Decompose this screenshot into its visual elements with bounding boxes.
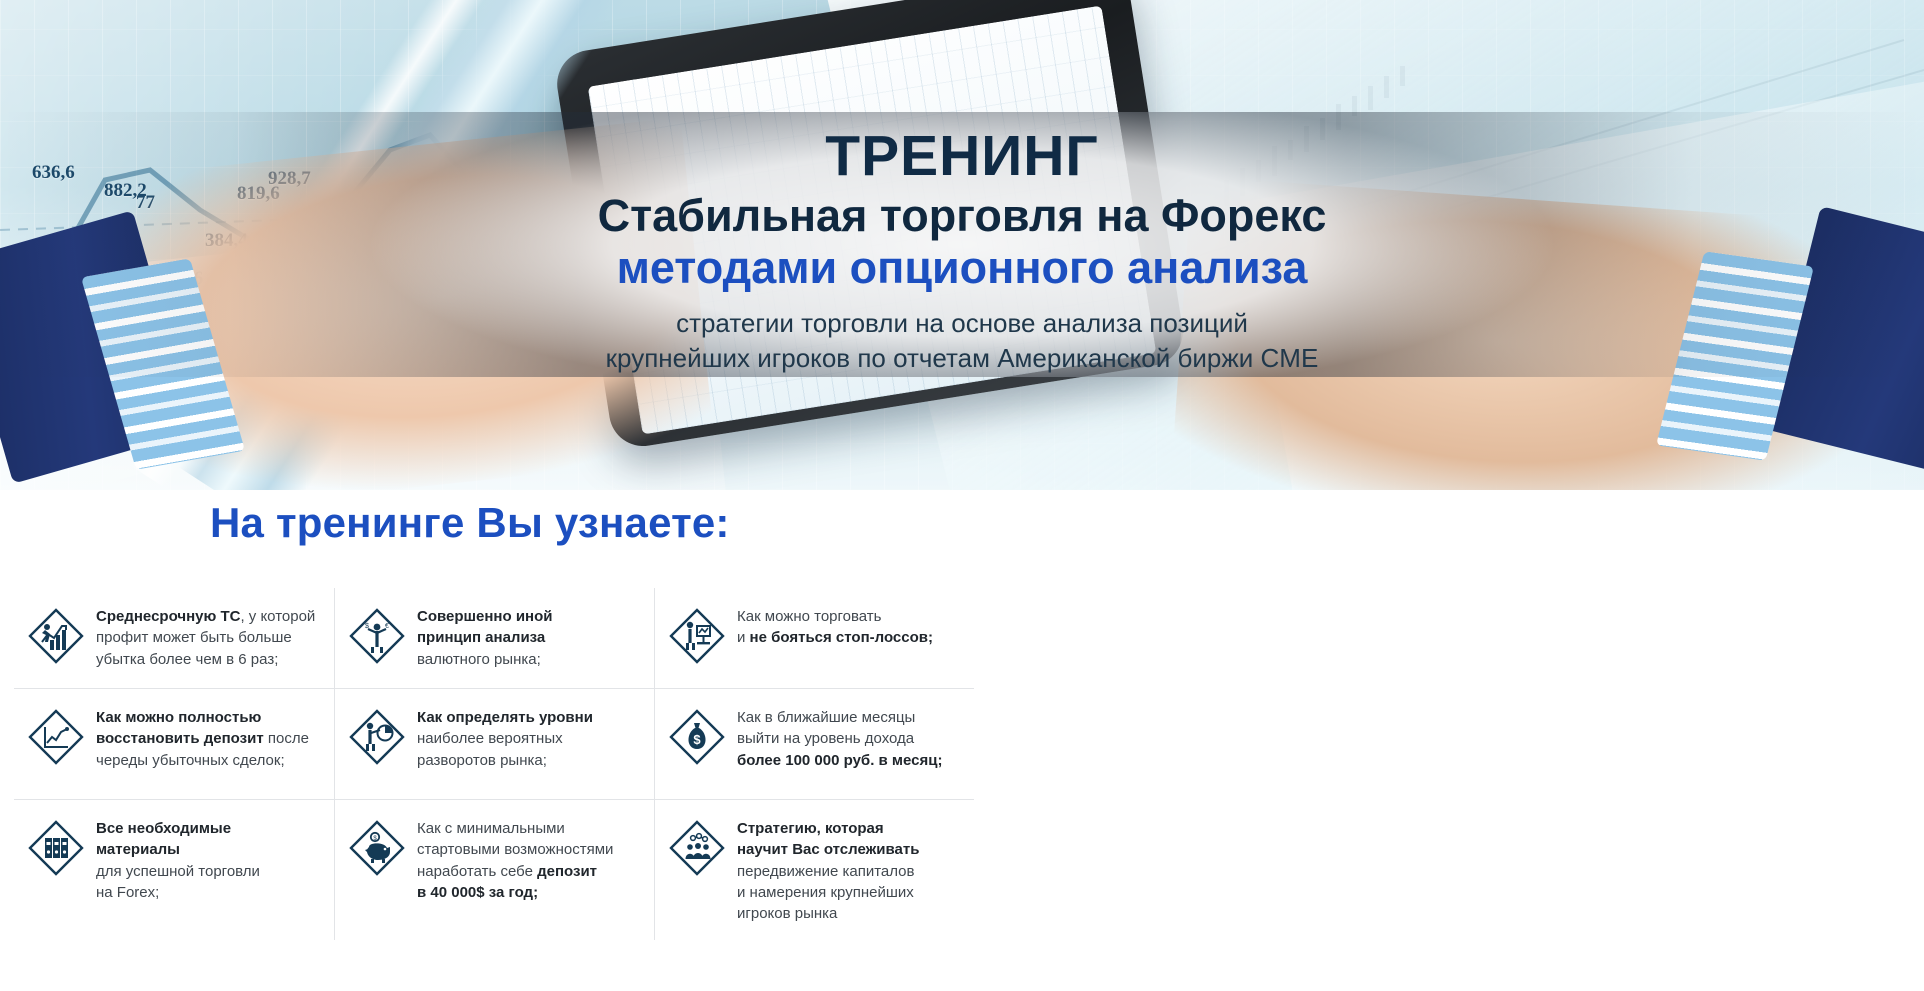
benefit-line: убытка более чем в 6 раз;	[96, 651, 278, 668]
svg-text:€: €	[385, 623, 389, 630]
person-monitor-icon	[669, 608, 725, 664]
benefit-text: Стратегию, которая научит Вас отслеживат…	[737, 814, 919, 924]
benefit-line: череды убыточных сделок;	[96, 752, 285, 769]
hero-kicker: ТРЕНИНГ	[0, 126, 1924, 186]
benefit-text: Среднесрочную ТС, у которой профит может…	[96, 602, 315, 670]
benefit-line: на Forex;	[96, 884, 159, 901]
benefit-rest: , у которой	[240, 608, 315, 625]
chart-growth-person-icon	[28, 608, 84, 664]
person-money-juggle-icon: $ €	[349, 608, 405, 664]
benefit-item[interactable]: $ Как с минимальными стартовыми возможно…	[334, 800, 654, 940]
benefit-line: передвижение капиталов	[737, 863, 914, 880]
benefit-strong: Стратегию, которая	[737, 820, 884, 837]
benefit-text: Как можно торговать и не бояться стоп-ло…	[737, 602, 933, 649]
benefit-item[interactable]: Как можно торговать и не бояться стоп-ло…	[654, 588, 974, 688]
svg-text:$: $	[693, 732, 701, 747]
benefit-line: выйти на уровень дохода	[737, 730, 914, 747]
hero-text-block: ТРЕНИНГ Стабильная торговля на Форекс ме…	[0, 126, 1924, 377]
benefit-strong: Как определять уровни	[417, 709, 593, 726]
benefit-line: валютного рынка;	[417, 651, 541, 668]
benefit-line: разворотов рынка;	[417, 752, 547, 769]
benefit-item[interactable]: Все необходимые материалы для успешной т…	[14, 800, 334, 940]
benefit-text: Как с минимальными стартовыми возможност…	[417, 814, 613, 903]
benefit-strong: не бояться стоп-лоссов;	[750, 629, 933, 646]
benefit-text: Как можно полностью восстановить депозит…	[96, 703, 309, 771]
benefit-strong: в 40 000$ за год;	[417, 884, 538, 901]
hero-banner: 636,6 882,2 77 928,7 819,6 664,5 384,4 4…	[0, 0, 1924, 490]
landing-page: 636,6 882,2 77 928,7 819,6 664,5 384,4 4…	[0, 0, 1924, 991]
benefit-item[interactable]: $ € Совершенно иной принцип анализа валю…	[334, 588, 654, 688]
benefit-strong: Среднесрочную ТС	[96, 608, 240, 625]
hero-subtitle-line-2: крупнейших игроков по отчетам Американск…	[0, 341, 1924, 376]
benefit-line: Как можно торговать	[737, 608, 882, 625]
people-network-icon	[669, 820, 725, 876]
person-pie-chart-icon	[349, 709, 405, 765]
benefit-strong: Все необходимые материалы	[96, 820, 231, 858]
benefit-prefix: наработать себе	[417, 863, 537, 880]
benefit-text: Все необходимые материалы для успешной т…	[96, 814, 316, 903]
benefit-item[interactable]: Стратегию, которая научит Вас отслеживат…	[654, 800, 974, 940]
benefits-row: Как можно полностью восстановить депозит…	[14, 688, 974, 799]
benefit-line: Как с минимальными	[417, 820, 565, 837]
benefits-row: Среднесрочную ТС, у которой профит может…	[14, 588, 974, 688]
benefit-line: и намерения крупнейших	[737, 884, 914, 901]
benefit-rest: после	[264, 730, 309, 747]
binders-folders-icon	[28, 820, 84, 876]
benefit-text: Совершенно иной принцип анализа валютног…	[417, 602, 552, 670]
svg-text:$: $	[365, 623, 369, 630]
hero-subtitle-line-1: стратегии торговли на основе анализа поз…	[0, 306, 1924, 341]
benefit-line: стартовыми возможностями	[417, 841, 613, 858]
hero-title-line-2: методами опционного анализа	[0, 242, 1924, 294]
benefit-text: Как в ближайшие месяцы выйти на уровень …	[737, 703, 942, 771]
benefit-strong: более 100 000 руб. в месяц;	[737, 752, 942, 769]
benefit-strong: научит Вас отслеживать	[737, 841, 919, 858]
benefit-item[interactable]: $ Как в ближайшие месяцы выйти на уровен…	[654, 689, 974, 799]
benefit-strong: Как можно полностью	[96, 709, 261, 726]
benefit-strong: восстановить депозит	[96, 730, 264, 747]
benefit-prefix: и	[737, 629, 750, 646]
hero-title-line-1: Стабильная торговля на Форекс	[0, 190, 1924, 242]
benefit-strong: Совершенно иной	[417, 608, 552, 625]
benefits-row: Все необходимые материалы для успешной т…	[14, 799, 974, 940]
benefits-grid: Среднесрочную ТС, у которой профит может…	[14, 588, 974, 940]
benefit-item[interactable]: Среднесрочную ТС, у которой профит может…	[14, 588, 334, 688]
benefit-line: профит может быть больше	[96, 629, 292, 646]
money-bag-icon: $	[669, 709, 725, 765]
benefit-line: Как в ближайшие месяцы	[737, 709, 915, 726]
benefit-strong: депозит	[537, 863, 597, 880]
benefit-item[interactable]: Как определять уровни наиболее вероятных…	[334, 689, 654, 799]
benefit-text: Как определять уровни наиболее вероятных…	[417, 703, 593, 771]
benefit-line: игроков рынка	[737, 905, 837, 922]
piggy-bank-icon: $	[349, 820, 405, 876]
benefit-line: для успешной торговли	[96, 863, 260, 880]
benefit-item[interactable]: Как можно полностью восстановить депозит…	[14, 689, 334, 799]
line-chart-axes-icon	[28, 709, 84, 765]
section-title: На тренинге Вы узнаете:	[210, 499, 730, 547]
benefits-section: На тренинге Вы узнаете:	[0, 490, 1924, 991]
benefit-strong: принцип анализа	[417, 629, 545, 646]
benefit-line: наиболее вероятных	[417, 730, 563, 747]
